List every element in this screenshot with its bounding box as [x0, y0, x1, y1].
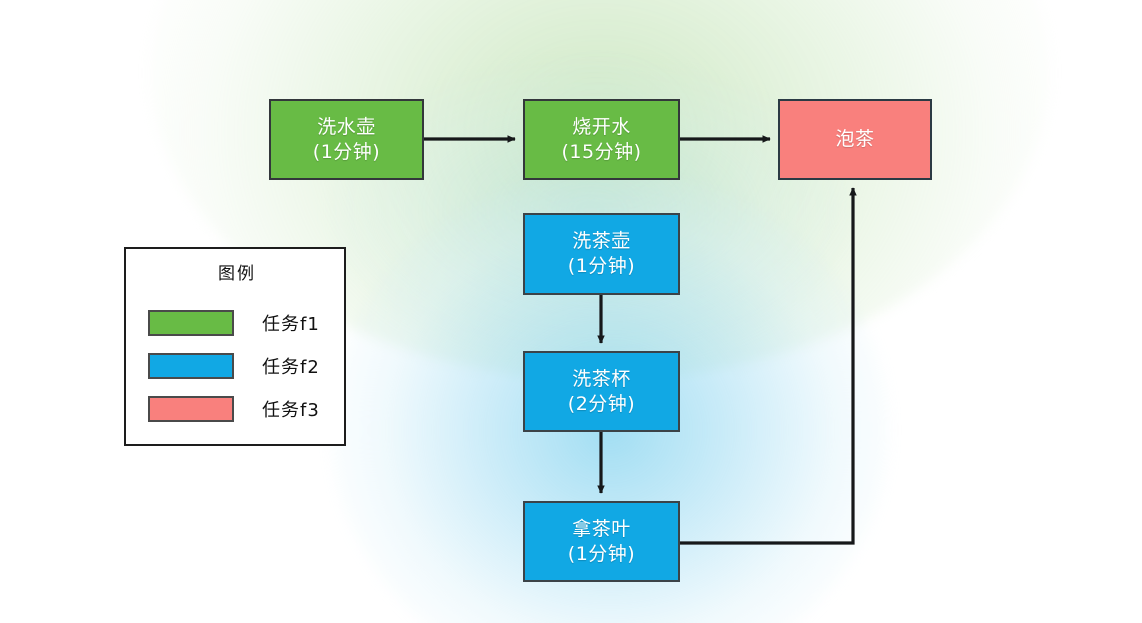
legend-item-f1[interactable]: 任务f1	[148, 308, 332, 338]
legend-item-f3[interactable]: 任务f3	[148, 394, 332, 424]
node-label-line1: 拿茶叶	[572, 517, 631, 542]
node-label-line1: 洗茶壶	[572, 229, 631, 254]
edge-get-tealeaves-to-brew-tea	[680, 188, 853, 543]
node-get-tealeaves[interactable]: 拿茶叶 (1分钟)	[523, 501, 680, 582]
legend-swatch-f2	[148, 353, 234, 379]
node-label-line2: (15分钟)	[561, 140, 641, 165]
node-label-line1: 烧开水	[572, 115, 631, 140]
node-label-line2: (1分钟)	[568, 254, 635, 279]
node-label-line2: (1分钟)	[568, 542, 635, 567]
legend-panel: 图例 任务f1 任务f2 任务f3	[124, 247, 346, 446]
node-label-line2: (2分钟)	[568, 392, 635, 417]
node-wash-teapot[interactable]: 洗茶壶 (1分钟)	[523, 213, 680, 295]
node-wash-kettle[interactable]: 洗水壶 (1分钟)	[269, 99, 424, 180]
legend-swatch-f1	[148, 310, 234, 336]
diagram-canvas: 洗水壶 (1分钟) 烧开水 (15分钟) 泡茶 洗茶壶 (1分钟) 洗茶杯 (2…	[0, 0, 1142, 623]
node-label-line1: 泡茶	[835, 127, 874, 152]
legend-label-f1: 任务f1	[262, 310, 320, 336]
legend-title: 图例	[126, 259, 348, 284]
legend-label-f2: 任务f2	[262, 353, 320, 379]
node-brew-tea[interactable]: 泡茶	[778, 99, 932, 180]
node-label-line1: 洗水壶	[317, 115, 376, 140]
node-wash-teacups[interactable]: 洗茶杯 (2分钟)	[523, 351, 680, 432]
node-label-line2: (1分钟)	[313, 140, 380, 165]
node-boil-water[interactable]: 烧开水 (15分钟)	[523, 99, 680, 180]
node-label-line1: 洗茶杯	[572, 367, 631, 392]
legend-swatch-f3	[148, 396, 234, 422]
legend-item-f2[interactable]: 任务f2	[148, 351, 332, 381]
legend-label-f3: 任务f3	[262, 396, 320, 422]
